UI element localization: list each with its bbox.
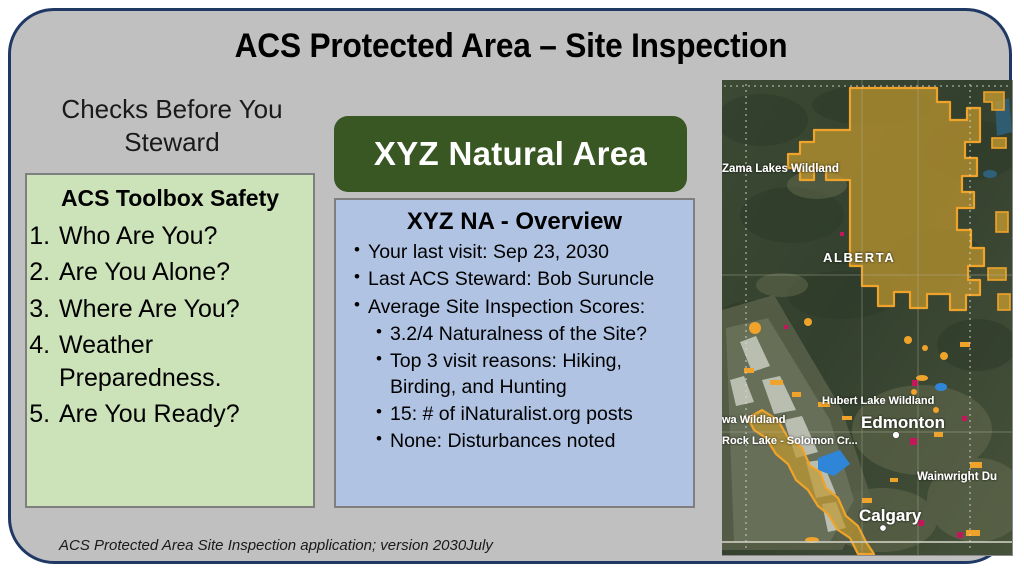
list-item[interactable]: Who Are You? [57, 220, 307, 253]
map-label: wa Wildland [722, 414, 785, 426]
map-label: Rock Lake - Solomon Cr... [722, 435, 858, 447]
list-item: Top 3 visit reasons: Hiking, Birding, an… [376, 349, 687, 400]
map-graphic: Zama Lakes Wildland ALBERTA Hubert Lake … [722, 80, 1012, 555]
slide-canvas: ACS Protected Area – Site Inspection Che… [8, 8, 1012, 564]
list-item: 3.2/4 Naturalness of the Site? [376, 322, 687, 347]
natural-area-banner[interactable]: XYZ Natural Area [334, 116, 687, 192]
map-label: Wainwright Du [917, 471, 997, 483]
list-item: 15: # of iNaturalist.org posts [376, 402, 687, 427]
city-dot-edmonton [893, 432, 900, 439]
list-item[interactable]: Weather Preparedness. [57, 329, 307, 396]
list-item[interactable]: Are You Ready? [57, 398, 307, 431]
map-label-edmonton: Edmonton [861, 413, 945, 432]
list-item[interactable]: Where Are You? [57, 293, 307, 326]
page-title: ACS Protected Area – Site Inspection [102, 27, 920, 66]
list-item: Your last visit: Sep 23, 2030 [354, 240, 687, 265]
natural-area-name: XYZ Natural Area [374, 135, 647, 173]
satellite-map[interactable]: Zama Lakes Wildland ALBERTA Hubert Lake … [722, 80, 1013, 556]
safety-box-title: ACS Toolbox Safety [27, 175, 313, 216]
city-dot-calgary [880, 525, 886, 531]
map-label: Hubert Lake Wildland [822, 395, 934, 407]
list-item[interactable]: Are You Alone? [57, 256, 307, 289]
safety-checklist: Who Are You? Are You Alone? Where Are Yo… [27, 220, 313, 432]
overview-box: XYZ NA - Overview Your last visit: Sep 2… [334, 198, 695, 508]
list-item: Last ACS Steward: Bob Suruncle [354, 267, 687, 292]
footer-note: ACS Protected Area Site Inspection appli… [59, 537, 699, 554]
list-item: Average Site Inspection Scores: [354, 295, 687, 320]
acs-toolbox-safety-box: ACS Toolbox Safety Who Are You? Are You … [25, 173, 315, 508]
map-label-calgary: Calgary [859, 506, 922, 525]
map-label: Zama Lakes Wildland [722, 163, 839, 175]
list-item: None: Disturbances noted [376, 429, 687, 454]
overview-box-title: XYZ NA - Overview [336, 200, 693, 238]
overview-list: Your last visit: Sep 23, 2030 Last ACS S… [336, 240, 693, 455]
checks-heading: Checks Before You Steward [27, 93, 317, 160]
map-label: ALBERTA [823, 250, 895, 265]
